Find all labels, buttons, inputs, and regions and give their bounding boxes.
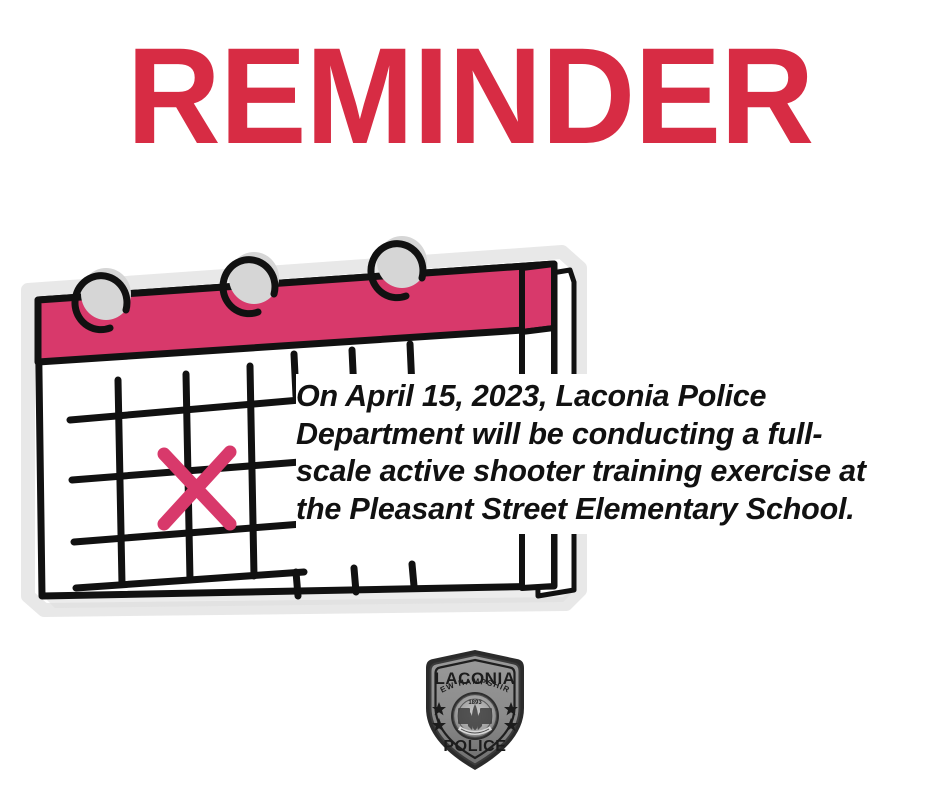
reminder-poster: REMINDER xyxy=(0,0,940,788)
page-title: REMINDER xyxy=(24,28,917,165)
message-text: On April 15, 2023, Laconia Police Depart… xyxy=(296,378,920,528)
laconia-police-badge: LACONIA NEW HAMPSHIRE 1893 xyxy=(414,646,536,774)
badge-bottom-text: POLICE xyxy=(443,738,506,755)
badge-center-seal: 1893 xyxy=(451,692,499,740)
badge-graphic: LACONIA NEW HAMPSHIRE 1893 xyxy=(414,646,536,774)
message-panel: On April 15, 2023, Laconia Police Depart… xyxy=(296,374,920,534)
